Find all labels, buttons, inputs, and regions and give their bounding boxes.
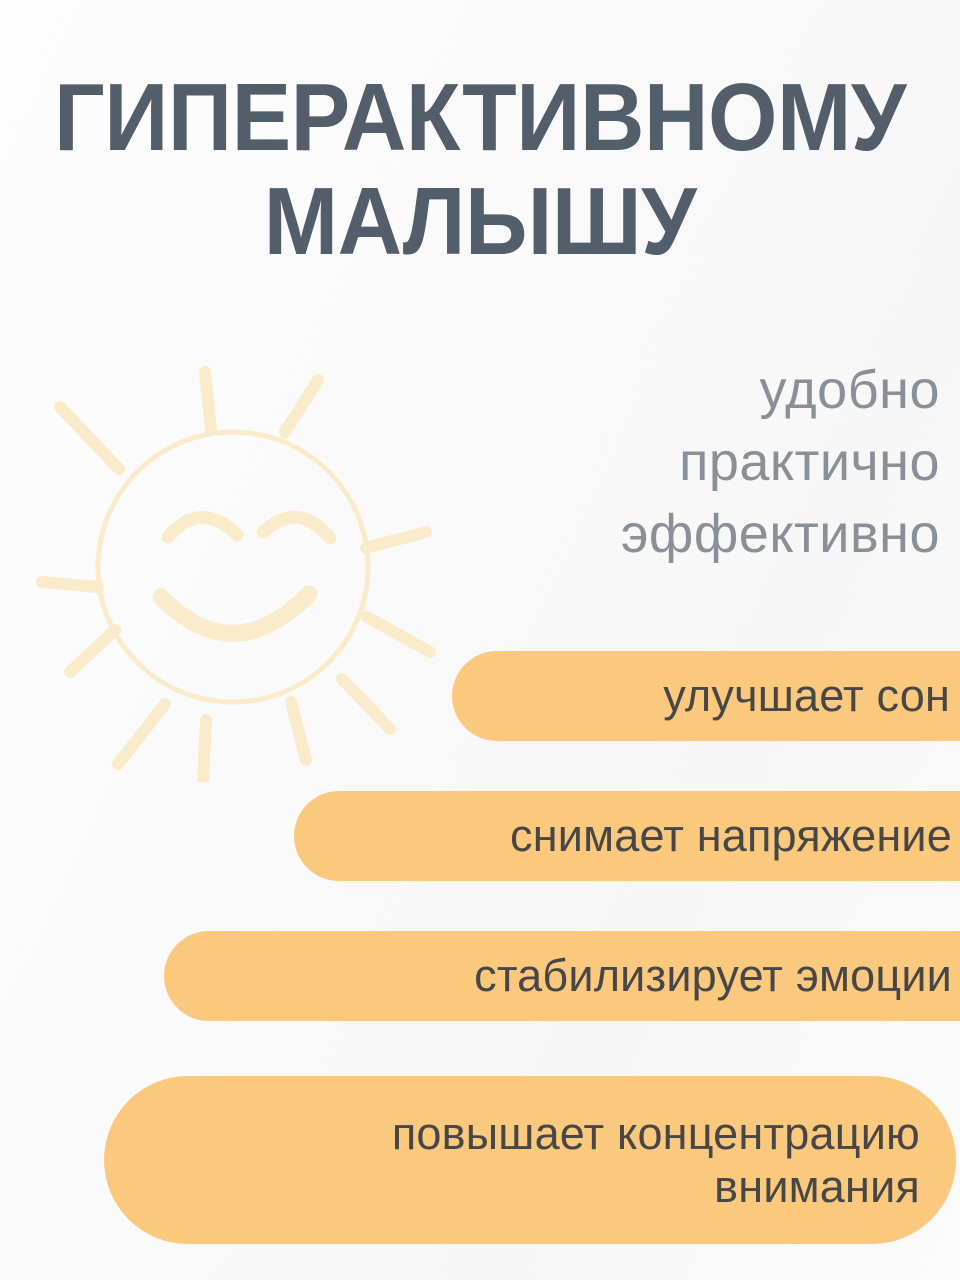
benefit-pill-1-label: улучшает сон — [663, 669, 950, 722]
page-title: ГИПЕРАКТИВНОМУ МАЛЫШУ — [0, 66, 960, 273]
page-title-line-1: ГИПЕРАКТИВНОМУ — [34, 66, 927, 170]
benefit-pill-4-label: повышает концентрацию внимания — [392, 1107, 920, 1213]
benefit-pill-2-label: снимает напряжение — [510, 809, 952, 862]
page-title-line-2: МАЛЫШУ — [34, 170, 927, 274]
benefit-pill-3[interactable]: стабилизирует эмоции — [164, 931, 960, 1021]
promo-page: ГИПЕРАКТИВНОМУ МАЛЫШУ удобно практично э… — [0, 0, 960, 1280]
benefit-pill-4-label-line-2: внимания — [392, 1160, 920, 1213]
subtitle-line-3: эффективно — [420, 499, 940, 571]
benefit-pill-4[interactable]: повышает концентрацию внимания — [104, 1076, 956, 1244]
benefit-pill-3-label: стабилизирует эмоции — [474, 949, 952, 1002]
benefit-pill-4-label-line-1: повышает концентрацию — [392, 1107, 920, 1160]
subtitle-line-1: удобно — [420, 355, 940, 427]
subtitle-line-2: практично — [420, 427, 940, 499]
benefit-pill-2[interactable]: снимает напряжение — [294, 791, 960, 881]
benefit-pill-1[interactable]: улучшает сон — [452, 651, 960, 741]
smiling-sun-icon — [18, 352, 448, 782]
subtitle-block: удобно практично эффективно — [420, 355, 940, 570]
